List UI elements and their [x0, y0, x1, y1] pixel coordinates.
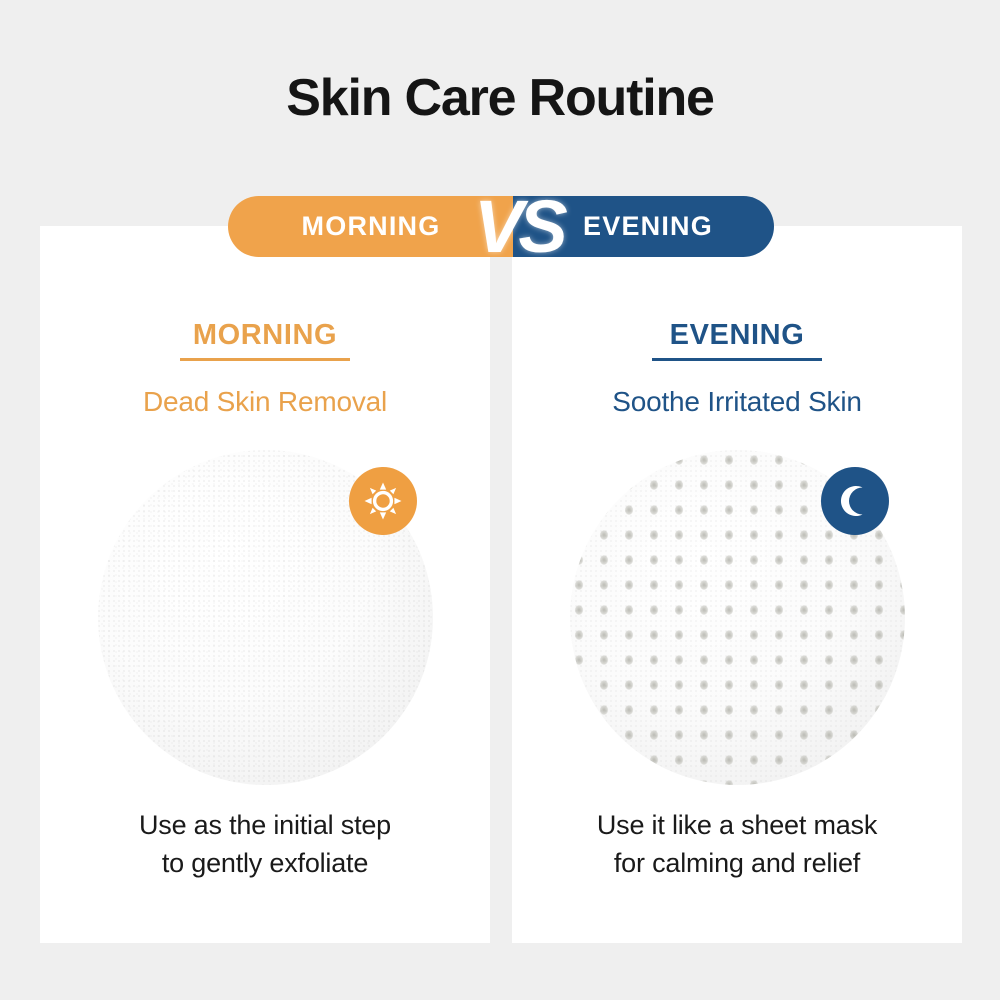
versus-badge-evening-label: EVENING	[533, 196, 763, 257]
morning-heading-underline	[180, 358, 350, 361]
skincare-routine-poster: Skin Care Routine MORNING EVENING VS MOR…	[0, 0, 1000, 1000]
evening-product-image	[570, 450, 905, 785]
morning-subheading: Dead Skin Removal	[40, 386, 490, 418]
evening-subheading: Soothe Irritated Skin	[512, 386, 962, 418]
evening-caption-line2: for calming and relief	[614, 848, 860, 878]
morning-heading: MORNING	[40, 319, 490, 352]
moon-icon	[821, 467, 889, 535]
versus-badge-morning-label: MORNING	[256, 196, 486, 257]
evening-caption-line1: Use it like a sheet mask	[597, 810, 877, 840]
morning-column: MORNING Dead Skin Removal	[40, 226, 490, 943]
evening-column: EVENING Soothe Irritated Skin Use it lik…	[512, 226, 962, 943]
page-title: Skin Care Routine	[0, 68, 1000, 128]
versus-mark: VS	[474, 180, 554, 274]
morning-product-image	[98, 450, 433, 785]
evening-heading: EVENING	[512, 319, 962, 352]
evening-caption: Use it like a sheet mask for calming and…	[512, 806, 962, 883]
sun-icon	[349, 467, 417, 535]
evening-heading-underline	[652, 358, 822, 361]
morning-caption-line2: to gently exfoliate	[162, 848, 368, 878]
morning-caption: Use as the initial step to gently exfoli…	[40, 806, 490, 883]
versus-badge: MORNING EVENING VS	[228, 196, 774, 257]
morning-caption-line1: Use as the initial step	[139, 810, 391, 840]
